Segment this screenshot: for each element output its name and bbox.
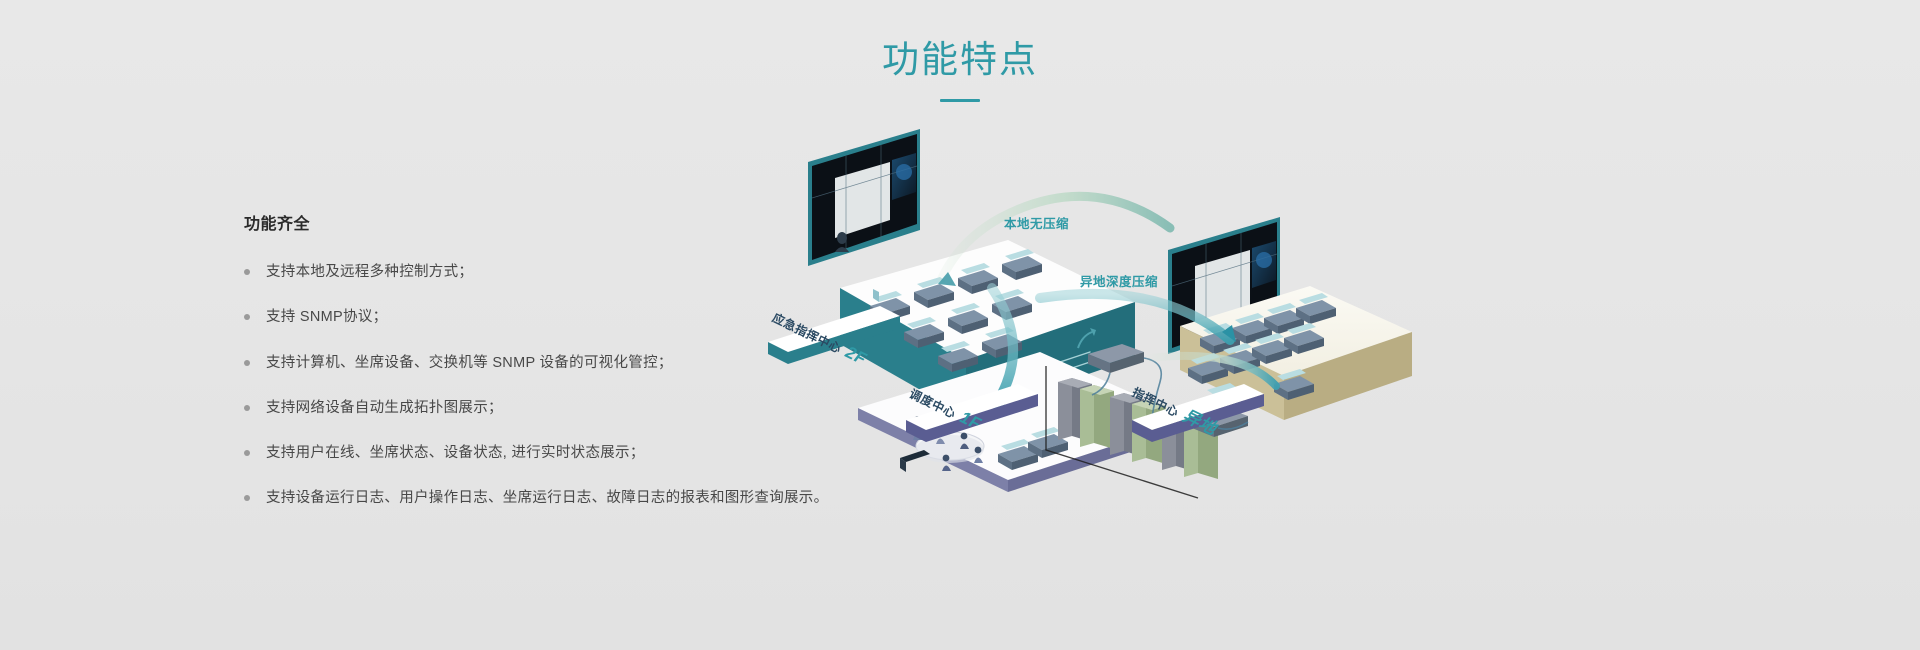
feature-text: 支持本地及远程多种控制方式； — [266, 264, 473, 280]
bullet-dot-icon — [244, 360, 250, 366]
bullet-dot-icon — [244, 405, 250, 411]
feature-text: 支持计算机、坐席设备、交换机等 SNMP 设备的可视化管控； — [266, 355, 673, 371]
title-underline-rule — [940, 99, 980, 102]
diagram-label-local-uncompressed: 本地无压缩 — [1004, 213, 1069, 232]
bullet-dot-icon — [244, 269, 250, 275]
page-title: 功能特点 — [0, 38, 1920, 82]
bullet-dot-icon — [244, 495, 250, 501]
page-header: 功能特点 — [0, 38, 1920, 102]
page-root: 功能特点 功能齐全 支持本地及远程多种控制方式； 支持 SNMP协议； 支持计算… — [0, 0, 1920, 650]
bullet-dot-icon — [244, 314, 250, 320]
system-topology-illustration — [740, 120, 1420, 540]
feature-text: 支持网络设备自动生成拓扑图展示； — [266, 400, 503, 416]
feature-text: 支持用户在线、坐席状态、设备状态, 进行实时状态展示； — [266, 445, 645, 461]
feature-text: 支持 SNMP协议； — [266, 309, 387, 325]
video-wall-2f — [808, 129, 920, 266]
diagram-label-remote-compressed: 异地深度压缩 — [1080, 271, 1158, 290]
bullet-dot-icon — [244, 450, 250, 456]
